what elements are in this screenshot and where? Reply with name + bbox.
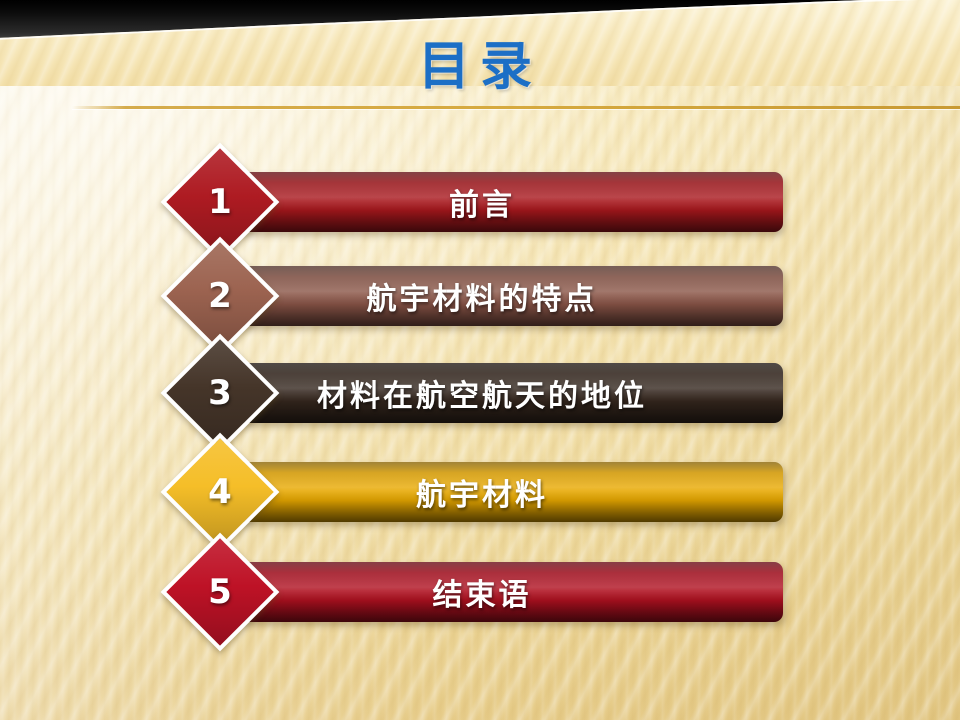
agenda-item-number: 4 (182, 454, 258, 530)
agenda-number-diamond[interactable]: 5 (161, 533, 280, 652)
agenda-item-number: 2 (182, 258, 258, 334)
agenda-item-label: 结束语 (235, 562, 783, 622)
agenda-bar[interactable]: 航宇材料 (235, 462, 783, 522)
slide-canvas: 目录 前言1航宇材料的特点2材料在航空航天的地位3航宇材料4结束语5 (0, 0, 960, 720)
agenda-item-label: 材料在航空航天的地位 (235, 363, 783, 423)
agenda-row[interactable]: 材料在航空航天的地位3 (0, 347, 960, 439)
agenda-bar[interactable]: 材料在航空航天的地位 (235, 363, 783, 423)
agenda-bar[interactable]: 前言 (235, 172, 783, 232)
agenda-bar[interactable]: 结束语 (235, 562, 783, 622)
agenda-row[interactable]: 航宇材料4 (0, 446, 960, 538)
agenda-item-number: 1 (182, 164, 258, 240)
page-title: 目录 (0, 24, 960, 99)
agenda-item-number: 5 (182, 554, 258, 630)
gold-divider-rule (72, 106, 960, 109)
agenda-item-number: 3 (182, 355, 258, 431)
agenda-item-label: 前言 (235, 172, 783, 232)
agenda-row[interactable]: 结束语5 (0, 546, 960, 638)
agenda-item-label: 航宇材料的特点 (235, 266, 783, 326)
agenda-bar[interactable]: 航宇材料的特点 (235, 266, 783, 326)
agenda-row[interactable]: 航宇材料的特点2 (0, 250, 960, 342)
agenda-item-label: 航宇材料 (235, 462, 783, 522)
agenda-row[interactable]: 前言1 (0, 156, 960, 248)
